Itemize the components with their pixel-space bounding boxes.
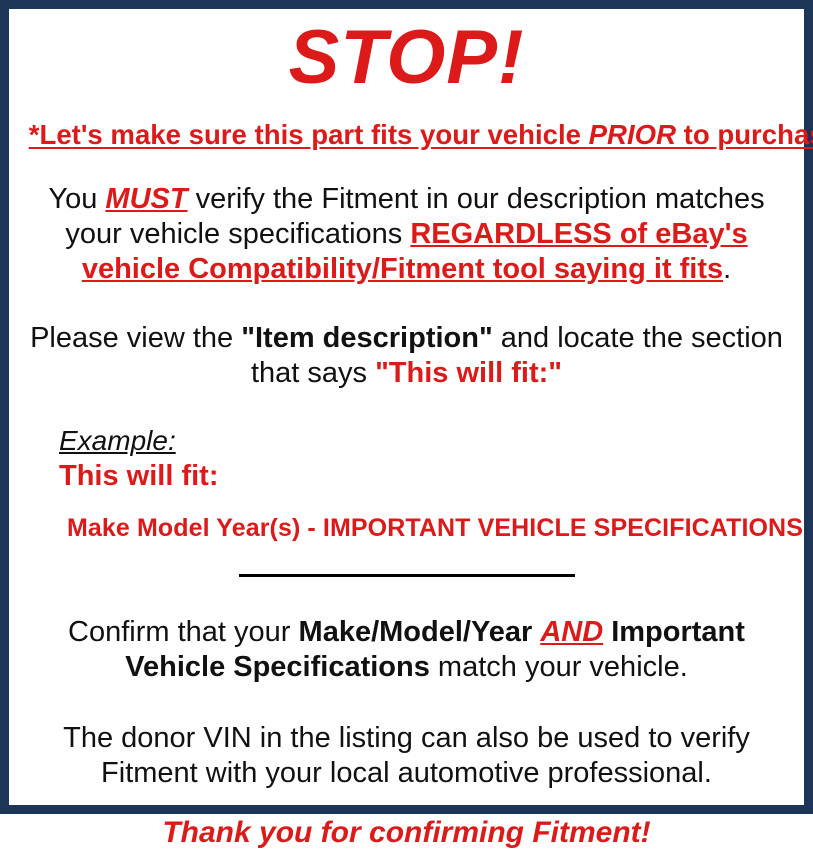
confirm-paragraph: Confirm that your Make/Model/Year AND Im… — [23, 585, 790, 685]
example-label: Example: — [59, 425, 790, 457]
subtitle-prefix: *Let's make sure this part fits your veh… — [29, 119, 589, 150]
divider-rule — [239, 574, 575, 577]
this-will-fit-quote: "This will fit:" — [375, 357, 562, 389]
itemdesc-seg1: Please view the — [30, 322, 241, 354]
confirm-seg1: Confirm that your — [68, 616, 298, 648]
notice-content: STOP! *Let's make sure this part fits yo… — [9, 9, 804, 805]
make-model-year-emphasis: Make/Model/Year — [299, 616, 533, 648]
vin-paragraph: The donor VIN in the listing can also be… — [23, 685, 790, 791]
subtitle-emphasis-prior: PRIOR — [589, 119, 676, 150]
must-paragraph-period: . — [723, 253, 731, 285]
subtitle-banner: *Let's make sure this part fits your veh… — [29, 100, 784, 152]
page-title: STOP! — [23, 9, 790, 100]
example-this-will-fit-label: This will fit: — [59, 457, 790, 493]
example-block: Example: This will fit: Make Model Year(… — [23, 391, 790, 543]
subtitle-suffix: to purchasing* — [676, 119, 813, 150]
thank-you-line: Thank you for confirming Fitment! — [23, 791, 790, 851]
item-description-label: "Item description" — [241, 322, 492, 354]
must-verify-paragraph: You MUST verify the Fitment in our descr… — [23, 152, 790, 287]
item-description-paragraph: Please view the "Item description" and l… — [23, 287, 790, 391]
vin-paragraph-text: The donor VIN in the listing can also be… — [63, 722, 750, 789]
example-spec-line: Make Model Year(s) - IMPORTANT VEHICLE S… — [59, 493, 790, 543]
must-paragraph-seg1: You — [48, 183, 105, 215]
fitment-notice-card: STOP! *Let's make sure this part fits yo… — [0, 0, 813, 814]
divider — [23, 543, 790, 585]
confirm-seg2: match your vehicle. — [430, 651, 688, 683]
and-emphasis: AND — [540, 616, 603, 648]
must-emphasis: MUST — [105, 183, 187, 215]
